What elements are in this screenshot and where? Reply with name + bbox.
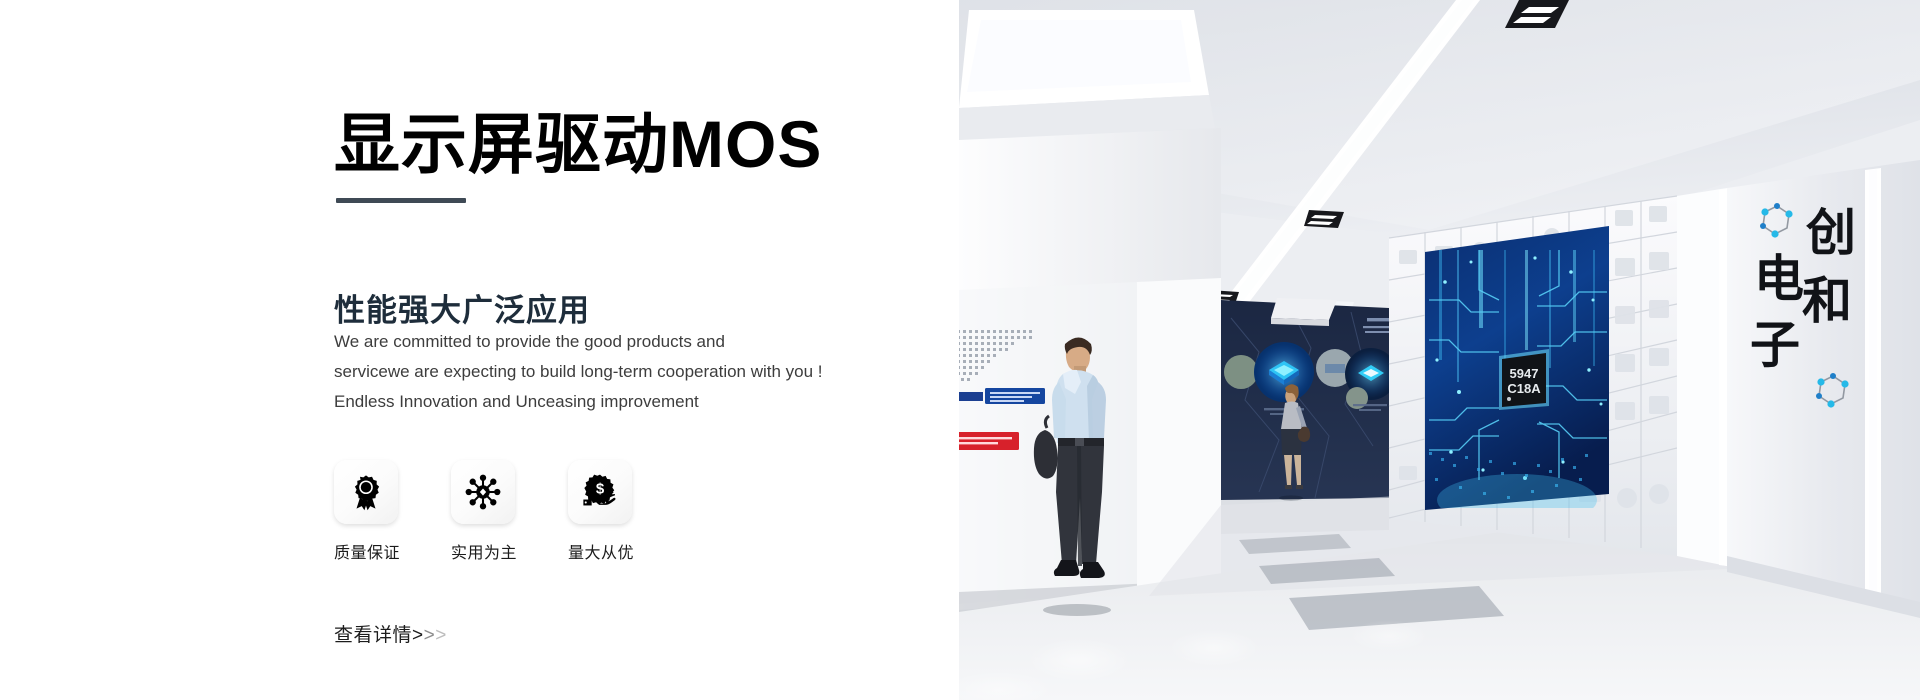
sign-char-zi: 子 bbox=[1750, 317, 1800, 373]
feature-item-practical[interactable]: 实用为主 bbox=[451, 460, 568, 563]
feature-list: 质量保证 bbox=[334, 460, 685, 563]
feature-badge bbox=[451, 460, 515, 524]
chevron-icon-3: > bbox=[435, 625, 447, 646]
product-banner: 显示屏驱动MOS 性能强大广泛应用 We are committed to pr… bbox=[0, 0, 1920, 700]
view-details-label: 查看详情 bbox=[334, 625, 412, 646]
sign-char-chuang: 创 bbox=[1806, 205, 1856, 261]
feature-badge bbox=[334, 460, 398, 524]
description-line-3: Endless Innovation and Unceasing improve… bbox=[334, 387, 894, 417]
description-line-1: We are committed to provide the good pro… bbox=[334, 327, 894, 357]
chip-label-line1: 5947 bbox=[1510, 366, 1539, 381]
exhibition-wall bbox=[1221, 298, 1397, 505]
hand-money-icon: $ bbox=[581, 473, 619, 511]
description-line-2: servicewe are expecting to build long-te… bbox=[334, 357, 894, 387]
feature-item-bulk-discount[interactable]: $ 量大从优 bbox=[568, 460, 685, 563]
description-text: We are committed to provide the good pro… bbox=[334, 327, 894, 417]
left-text-panel: 显示屏驱动MOS 性能强大广泛应用 We are committed to pr… bbox=[0, 0, 959, 700]
feature-label: 质量保证 bbox=[334, 539, 451, 563]
svg-text:$: $ bbox=[596, 481, 605, 498]
map-legend-icon bbox=[959, 392, 983, 401]
title-divider bbox=[336, 198, 466, 203]
showroom-illustration: 5947 C18A bbox=[959, 0, 1920, 700]
feature-label: 量大从优 bbox=[568, 539, 685, 563]
sign-char-he: 和 bbox=[1802, 273, 1852, 329]
view-details-link[interactable]: 查看详情>>> bbox=[334, 620, 447, 647]
showroom-photo: 5947 C18A bbox=[959, 0, 1920, 700]
feature-badge: $ bbox=[568, 460, 632, 524]
chevron-icon-1: > bbox=[412, 625, 424, 646]
led-display-wall: 5947 C18A bbox=[1425, 226, 1609, 526]
chip-graphic: 5947 C18A bbox=[1499, 349, 1549, 410]
sign-char-dian: 电 bbox=[1754, 251, 1804, 307]
info-label-red bbox=[959, 432, 1019, 450]
chevron-icon-2: > bbox=[424, 625, 436, 646]
page-title: 显示屏驱动MOS bbox=[334, 106, 822, 182]
feature-item-quality[interactable]: 质量保证 bbox=[334, 460, 451, 563]
network-hub-icon bbox=[464, 473, 502, 511]
page-subtitle: 性能强大广泛应用 bbox=[334, 291, 590, 331]
chip-label-line2: C18A bbox=[1507, 381, 1541, 396]
award-ribbon-icon bbox=[347, 473, 385, 511]
feature-label: 实用为主 bbox=[451, 539, 568, 563]
banner-content: 显示屏驱动MOS 性能强大广泛应用 We are committed to pr… bbox=[334, 0, 934, 700]
